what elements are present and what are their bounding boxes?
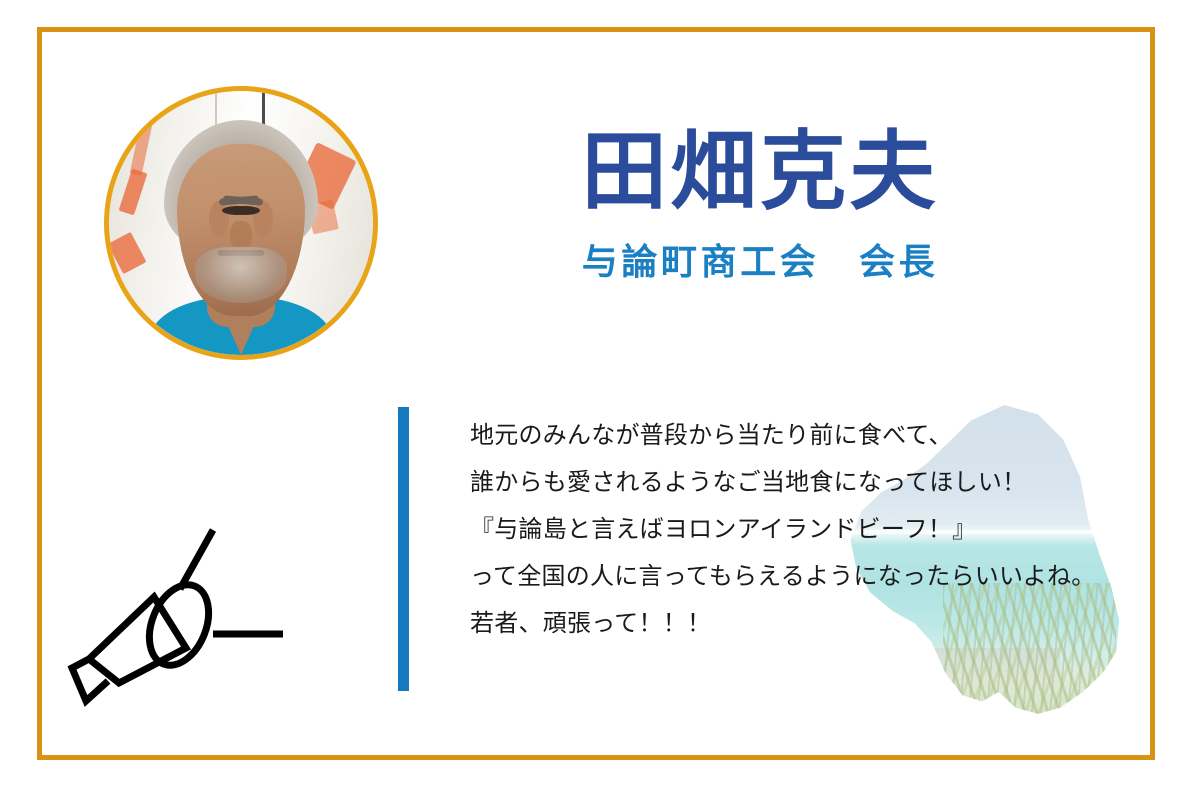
quote-block: 地元のみんなが普段から当たり前に食べて、 誰からも愛されるようなご当地食になって… bbox=[470, 412, 1140, 647]
page-title: 田畑克夫 bbox=[460, 126, 1060, 219]
name-block: 田畑克夫 与論町商工会 会長 bbox=[460, 126, 1060, 285]
avatar bbox=[104, 86, 378, 360]
portrait-photo bbox=[109, 91, 373, 355]
quote-line: 誰からも愛されるようなご当地食になってほしい！ bbox=[470, 459, 1140, 506]
quote-line: 地元のみんなが普段から当たり前に食べて、 bbox=[470, 412, 1140, 459]
quote-line: 『与論島と言えばヨロンアイランドビーフ！』 bbox=[470, 506, 1140, 553]
portrait-eye-right bbox=[230, 206, 260, 215]
person-role-subtitle: 与論町商工会 会長 bbox=[460, 233, 1060, 285]
island-photo-sand bbox=[881, 648, 1060, 698]
poster-canvas: 田畑克夫 与論町商工会 会長 bbox=[0, 0, 1200, 800]
quote-accent-bar bbox=[398, 407, 409, 691]
portrait-ear-left bbox=[209, 201, 229, 237]
quote-line: って全国の人に言ってもらえるようになったらいいよね。 bbox=[470, 553, 1140, 600]
megaphone-icon-svg bbox=[62, 505, 322, 715]
megaphone-icon bbox=[62, 505, 322, 715]
portrait-ear-right bbox=[253, 201, 273, 237]
portrait-beard bbox=[195, 247, 287, 303]
quote-line: 若者、頑張って！！！ bbox=[470, 600, 1140, 647]
